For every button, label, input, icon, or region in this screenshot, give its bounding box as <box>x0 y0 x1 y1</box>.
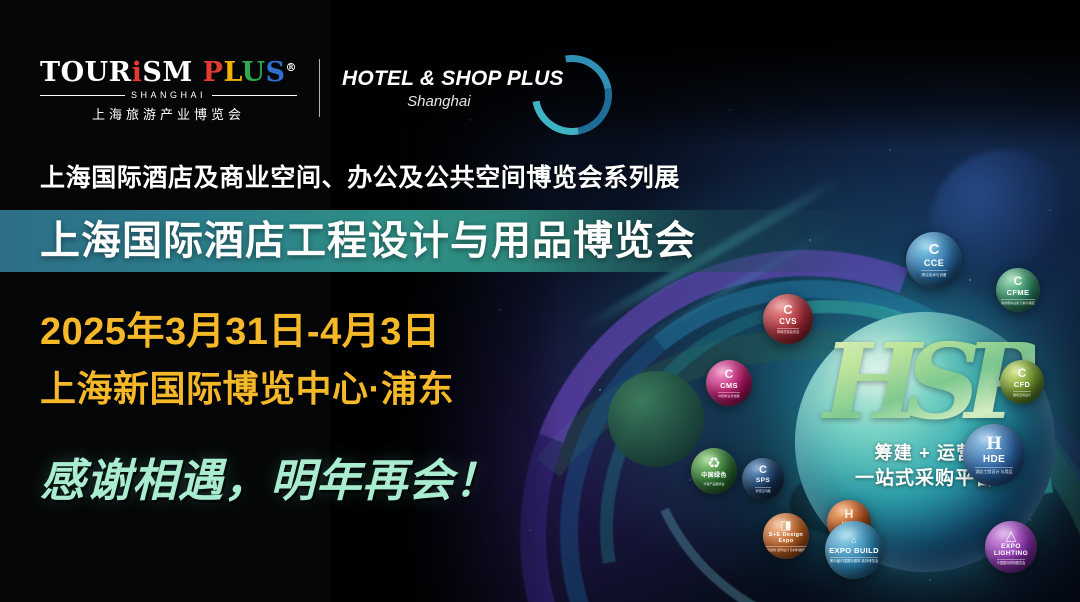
expo-build-subtitle: 第32届中国国际建筑 装饰博览会 <box>830 557 879 564</box>
series-subtitle: 上海国际酒店及商业空间、办公及公共空间博览会系列展 <box>40 158 680 194</box>
rule-line-right <box>212 95 297 96</box>
cfme-code: CFME <box>1007 289 1030 297</box>
cfd-mark-icon: C <box>1018 367 1027 379</box>
badge-cfd[interactable]: C CFD 餐饮空间设计 <box>1000 360 1044 404</box>
registered-trademark-icon: ® <box>286 61 298 74</box>
event-date: 2025年3月31日-4月3日 <box>40 310 440 354</box>
hde-subtitle: 酒店工程设计 与用品 <box>975 467 1012 475</box>
badge-cce[interactable]: C CCE 清洁技术与设备 <box>906 232 962 288</box>
tp-word-tour: TOUR <box>40 57 132 88</box>
green-eco-leaf-icon: ♻ <box>707 456 720 471</box>
sps-mark-icon: C <box>759 465 767 476</box>
planet-green <box>608 371 704 467</box>
poster-canvas: HSP 筹建 + 运营 一站式采购平台 C CCE 清洁技术与设备 C CFME… <box>0 0 1080 602</box>
badge-sps[interactable]: C SPS 智慧空间展 <box>742 458 784 500</box>
rule-line-left <box>40 95 125 96</box>
hotel-shop-plus-logo[interactable]: HOTEL & SHOP PLUS Shanghai <box>342 52 604 124</box>
badge-hde[interactable]: H HDE 酒店工程设计 与用品 <box>963 424 1025 486</box>
tp-word-u: U <box>242 57 266 88</box>
tourism-plus-wordmark: TOURiSM PLUS® <box>40 53 297 88</box>
tp-word-sm: SM <box>142 57 192 88</box>
se-design-subtitle: 国际建筑·装饰设计 及材料展览会 <box>764 546 808 552</box>
farewell-slogan: 感谢相遇，明年再会！ <box>40 452 500 510</box>
green-eco-code: 中国绿色 <box>701 473 727 479</box>
se-design-mark-icon: ◨ <box>780 519 791 531</box>
green-eco-subtitle: 环保产品展览会 <box>703 481 724 486</box>
logo-row: TOURiSM PLUS® SHANGHAI 上海旅游产业博览会 HOTEL &… <box>40 52 604 124</box>
badge-cvs[interactable]: C CVS 商用洗涤及清洁 <box>763 294 813 344</box>
expo-lighting-code: EXPO LIGHTING <box>985 544 1037 557</box>
cce-code: CCE <box>924 259 944 268</box>
hotel-shop-plus-wordmark: HOTEL & SHOP PLUS <box>342 67 564 91</box>
cvs-mark-icon: C <box>783 303 792 316</box>
cce-mark-icon: C <box>929 242 940 257</box>
badge-expo-build[interactable]: ⌂ EXPO BUILD 第32届中国国际建筑 装饰博览会 <box>825 521 883 579</box>
tp-word-s: S <box>266 57 286 88</box>
event-venue: 上海新国际博览中心·浦东 <box>40 367 454 411</box>
cfd-subtitle: 餐饮空间设计 <box>1013 391 1031 397</box>
badge-expo-lighting[interactable]: △ EXPO LIGHTING 中国国际照明展览会 <box>985 521 1037 573</box>
cms-mark-icon: C <box>725 368 734 380</box>
sps-subtitle: 智慧空间展 <box>755 487 770 493</box>
crescent-ring-icon <box>516 39 627 150</box>
expo-lighting-triangle-icon: △ <box>1006 528 1017 542</box>
tourism-plus-chinese: 上海旅游产业博览会 <box>92 104 245 123</box>
page-title: 上海国际酒店工程设计与用品博览会 <box>40 215 696 267</box>
expo-build-code: EXPO BUILD <box>829 547 879 555</box>
cvs-subtitle: 商用洗涤及清洁 <box>777 328 799 335</box>
badge-cms[interactable]: C CMS 中国商业清洁展 <box>706 360 752 406</box>
tp-word-i: i <box>132 57 143 88</box>
badge-cfme[interactable]: C CFME 商用厨房设备 及制冷展区 <box>996 268 1040 312</box>
cce-subtitle: 清洁技术与设备 <box>921 270 946 277</box>
tourism-plus-rule: SHANGHAI <box>40 90 297 100</box>
expo-lighting-subtitle: 中国国际照明展览会 <box>997 559 1026 566</box>
expo-build-house-icon: ⌂ <box>851 536 856 545</box>
cfd-code: CFD <box>1014 381 1031 389</box>
logo-divider <box>319 59 320 117</box>
sps-code: SPS <box>756 478 770 485</box>
cms-code: CMS <box>720 382 738 390</box>
badge-green-eco[interactable]: ♻ 中国绿色 环保产品展览会 <box>691 448 737 494</box>
tourism-plus-city: SHANGHAI <box>131 90 206 100</box>
cfme-subtitle: 商用厨房设备 及制冷展区 <box>1001 299 1035 305</box>
cms-subtitle: 中国商业清洁展 <box>718 392 739 398</box>
cfme-mark-icon: C <box>1014 275 1023 287</box>
se-design-code: S+E Design Expo <box>763 533 809 544</box>
cvs-code: CVS <box>779 318 797 326</box>
badge-se-design-expo[interactable]: ◨ S+E Design Expo 国际建筑·装饰设计 及材料展览会 <box>763 513 809 559</box>
tourism-plus-logo[interactable]: TOURiSM PLUS® SHANGHAI 上海旅游产业博览会 <box>40 53 297 123</box>
hfe-mark-icon: H <box>845 508 854 520</box>
tp-word-p: P <box>203 57 224 88</box>
tp-word-l: L <box>223 57 241 88</box>
hde-mark-icon: H <box>986 436 1002 453</box>
hotel-shop-plus-city: Shanghai <box>342 93 564 110</box>
hde-code: HDE <box>983 455 1005 465</box>
